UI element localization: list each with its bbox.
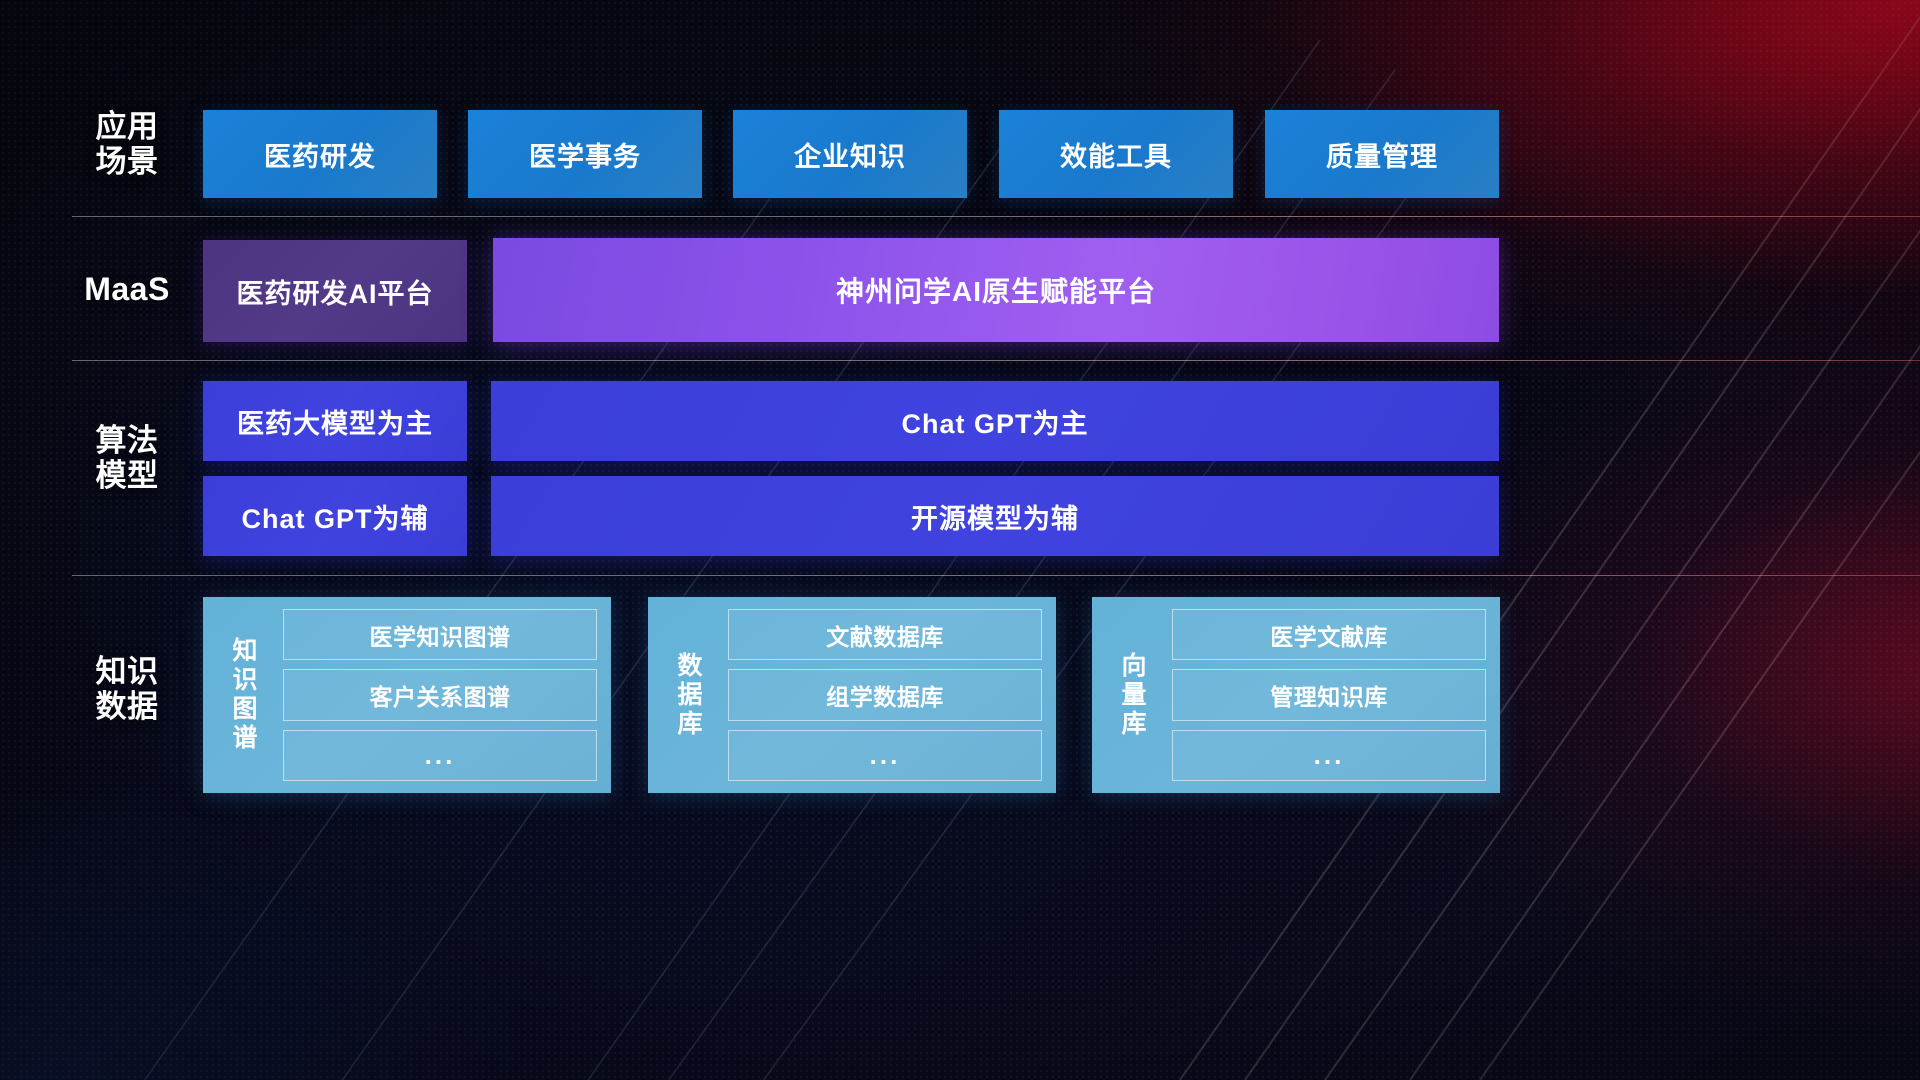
maas-right-label: 神州问学AI原生赋能平台 bbox=[836, 270, 1156, 310]
knowledge-item-1-3[interactable]: ... bbox=[283, 730, 597, 781]
algo-label-row2-left: Chat GPT为辅 bbox=[241, 497, 428, 536]
knowledge-panel-label-1: 知 识 图 谱 bbox=[217, 609, 273, 781]
algo-box-row2-right[interactable]: 开源模型为辅 bbox=[491, 476, 1499, 556]
knowledge-item-2-2[interactable]: 组学数据库 bbox=[728, 669, 1042, 720]
tier-divider-1 bbox=[72, 216, 1920, 217]
tier-label-knowledge-data: 知识 数据 bbox=[72, 655, 182, 724]
tier-divider-2 bbox=[72, 360, 1920, 361]
maas-platform-box-right[interactable]: 神州问学AI原生赋能平台 bbox=[493, 238, 1499, 342]
app-scenario-box-4[interactable]: 效能工具 bbox=[999, 110, 1233, 198]
app-scenario-label-1: 医药研发 bbox=[264, 135, 376, 174]
knowledge-panel-items-1: 医学知识图谱 客户关系图谱 ... bbox=[283, 609, 597, 781]
knowledge-panel-label-3: 向 量 库 bbox=[1106, 609, 1162, 781]
app-scenario-box-1[interactable]: 医药研发 bbox=[203, 110, 437, 198]
tier-label-algorithm-model: 算法 模型 bbox=[72, 424, 182, 493]
knowledge-panel-database[interactable]: 数 据 库 文献数据库 组学数据库 ... bbox=[648, 597, 1056, 793]
algo-box-row2-left[interactable]: Chat GPT为辅 bbox=[203, 476, 467, 556]
knowledge-panel-vector-store[interactable]: 向 量 库 医学文献库 管理知识库 ... bbox=[1092, 597, 1500, 793]
app-scenario-label-3: 企业知识 bbox=[794, 135, 906, 174]
app-scenario-box-2[interactable]: 医学事务 bbox=[468, 110, 702, 198]
knowledge-item-3-3[interactable]: ... bbox=[1172, 730, 1486, 781]
knowledge-item-1-1[interactable]: 医学知识图谱 bbox=[283, 609, 597, 660]
knowledge-panel-knowledge-graph[interactable]: 知 识 图 谱 医学知识图谱 客户关系图谱 ... bbox=[203, 597, 611, 793]
algo-label-row1-right: Chat GPT为主 bbox=[901, 402, 1088, 441]
knowledge-item-3-2[interactable]: 管理知识库 bbox=[1172, 669, 1486, 720]
knowledge-item-2-3[interactable]: ... bbox=[728, 730, 1042, 781]
maas-left-label: 医药研发AI平台 bbox=[237, 272, 434, 311]
tier-label-application-scenarios: 应用 场景 bbox=[72, 110, 182, 179]
tier-label-maas: MaaS bbox=[72, 272, 182, 308]
app-scenario-label-2: 医学事务 bbox=[529, 135, 641, 174]
diagram-stage: 应用 场景 医药研发 医学事务 企业知识 效能工具 质量管理 MaaS 医药研发… bbox=[0, 0, 1920, 1080]
tier-divider-3 bbox=[72, 575, 1920, 576]
knowledge-item-3-1[interactable]: 医学文献库 bbox=[1172, 609, 1486, 660]
algo-box-row1-left[interactable]: 医药大模型为主 bbox=[203, 381, 467, 461]
app-scenario-label-4: 效能工具 bbox=[1060, 135, 1172, 174]
knowledge-panel-label-2: 数 据 库 bbox=[662, 609, 718, 781]
app-scenario-box-5[interactable]: 质量管理 bbox=[1265, 110, 1499, 198]
app-scenario-box-3[interactable]: 企业知识 bbox=[733, 110, 967, 198]
knowledge-item-1-2[interactable]: 客户关系图谱 bbox=[283, 669, 597, 720]
maas-platform-box-left[interactable]: 医药研发AI平台 bbox=[203, 240, 467, 342]
knowledge-panel-items-3: 医学文献库 管理知识库 ... bbox=[1172, 609, 1486, 781]
knowledge-panel-items-2: 文献数据库 组学数据库 ... bbox=[728, 609, 1042, 781]
algo-box-row1-right[interactable]: Chat GPT为主 bbox=[491, 381, 1499, 461]
knowledge-item-2-1[interactable]: 文献数据库 bbox=[728, 609, 1042, 660]
algo-label-row1-left: 医药大模型为主 bbox=[237, 402, 433, 441]
algo-label-row2-right: 开源模型为辅 bbox=[911, 497, 1079, 536]
app-scenario-label-5: 质量管理 bbox=[1326, 135, 1438, 174]
